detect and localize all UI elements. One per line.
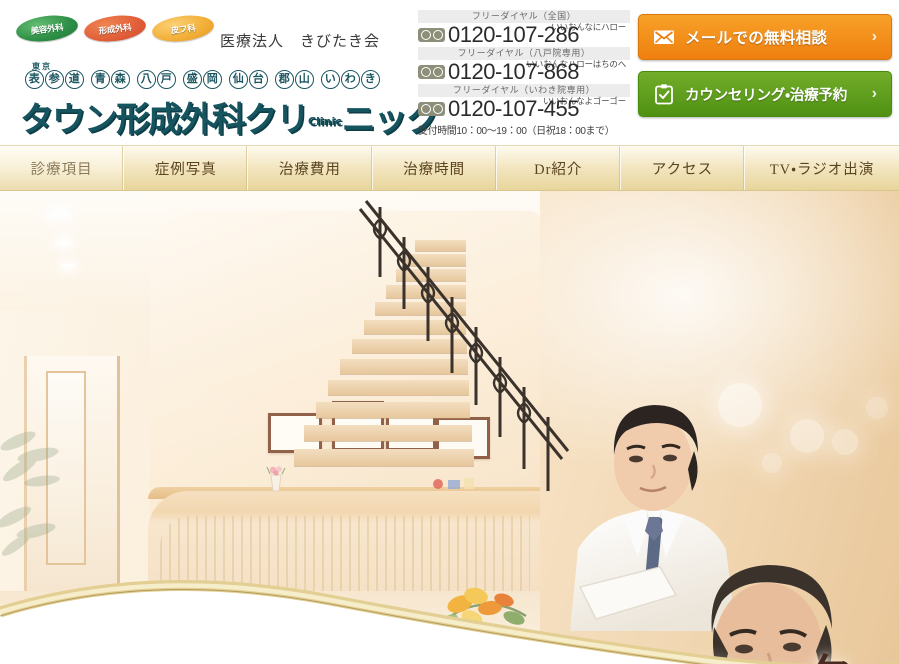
clinic-logo[interactable]: タウン形成外科クリClinicニック [20,92,438,141]
main-navigation: 診療項目 症例写真 治療費用 治療時間 Dr紹介 アクセス TV・ラジオ出演 [0,145,899,191]
ceiling-light [48,209,70,218]
phone-number[interactable]: 0120-107-868 [448,61,579,83]
specialty-badges: 美容外科 形成外科 皮フ科 [16,16,214,41]
iron-balustrade [356,191,570,491]
booking-button[interactable]: カウンセリング・治療予約 › [638,71,892,117]
nav-item-access[interactable]: アクセス [621,146,745,190]
page-root: 美容外科 形成外科 皮フ科 医療法人 きびたき会 東京 表参道 青森 八戸 盛岡… [0,0,899,664]
phone-row-national[interactable]: いいおんなにハロー 0120-107-286 [418,22,630,47]
freedial-icon [418,65,445,79]
hero-banner: 郡山タウン形成外科クリニック 学会認定専門医による安心と信頼の美容整形治療 [0,191,899,664]
phone-number[interactable]: 0120-107-455 [448,98,579,120]
ceiling-light [56,239,72,246]
clinic-logo-main: タウン形成外科クリ [20,100,308,140]
corporation-name: 医療法人 きびたき会 [220,30,380,51]
chevron-right-icon: › [872,85,877,103]
mail-icon [653,26,675,48]
cta-block: メールでの無料相談 › カウンセリング・治療予約 › [638,14,890,128]
city-koriyama: 郡山 [272,70,316,89]
city-list: 表参道 青森 八戸 盛岡 仙台 郡山 いわき [22,70,382,89]
chevron-right-icon: › [872,28,877,46]
brand-block[interactable]: 美容外科 形成外科 皮フ科 医療法人 きびたき会 東京 表参道 青森 八戸 盛岡… [8,8,408,138]
clipboard-check-icon [653,83,675,105]
bokeh-light [866,397,888,419]
phone-number[interactable]: 0120-107-286 [448,24,579,46]
city-morioka: 盛岡 [180,70,224,89]
mail-consultation-button[interactable]: メールでの無料相談 › [638,14,892,60]
phone-row-hachinohe[interactable]: いいおんなハローはちのへ 0120-107-868 [418,59,630,84]
nav-item-treatment-hours[interactable]: 治療時間 [373,146,497,190]
badge-dermatology: 皮フ科 [151,12,216,44]
badge-label: 形成外科 [98,21,132,37]
badge-label: 美容外科 [30,21,64,37]
reception-hours: 受付時間10：00〜19：00（日祝18：00まで） [418,122,630,137]
freedial-icon [418,102,445,116]
city-iwaki: いわき [318,70,382,89]
badge-cosmetic-surgery: 美容外科 [15,12,80,44]
booking-label: カウンセリング・治療予約 [685,84,872,105]
nav-item-treatments[interactable]: 診療項目 [0,146,124,190]
city-aomori: 青森 [88,70,132,89]
clinic-logo-clinic-en: Clinic [308,115,342,128]
site-header: 美容外科 形成外科 皮フ科 医療法人 きびたき会 東京 表参道 青森 八戸 盛岡… [0,0,899,145]
nav-item-tv-radio[interactable]: TV・ラジオ出演 [745,146,899,190]
freedial-icon [418,28,445,42]
city-sendai: 仙台 [226,70,270,89]
mail-consultation-label: メールでの無料相談 [685,26,872,48]
nav-item-doctor-intro[interactable]: Dr紹介 [497,146,621,190]
badge-plastic-surgery: 形成外科 [83,12,148,44]
phone-row-iwaki[interactable]: いいおんなよゴーゴー 0120-107-455 [418,96,630,121]
gold-wave-decoration [0,556,899,664]
city-hachinohe: 八戸 [134,70,178,89]
badge-label: 皮フ科 [170,21,196,36]
phone-block: フリーダイヤル（全国） いいおんなにハロー 0120-107-286 フリーダイ… [418,10,630,137]
nav-item-case-photos[interactable]: 症例写真 [124,146,248,190]
nav-item-treatment-cost[interactable]: 治療費用 [248,146,372,190]
bokeh-light [832,429,858,455]
city-omotesando: 表参道 [22,70,86,89]
ceiling-light [62,263,75,269]
